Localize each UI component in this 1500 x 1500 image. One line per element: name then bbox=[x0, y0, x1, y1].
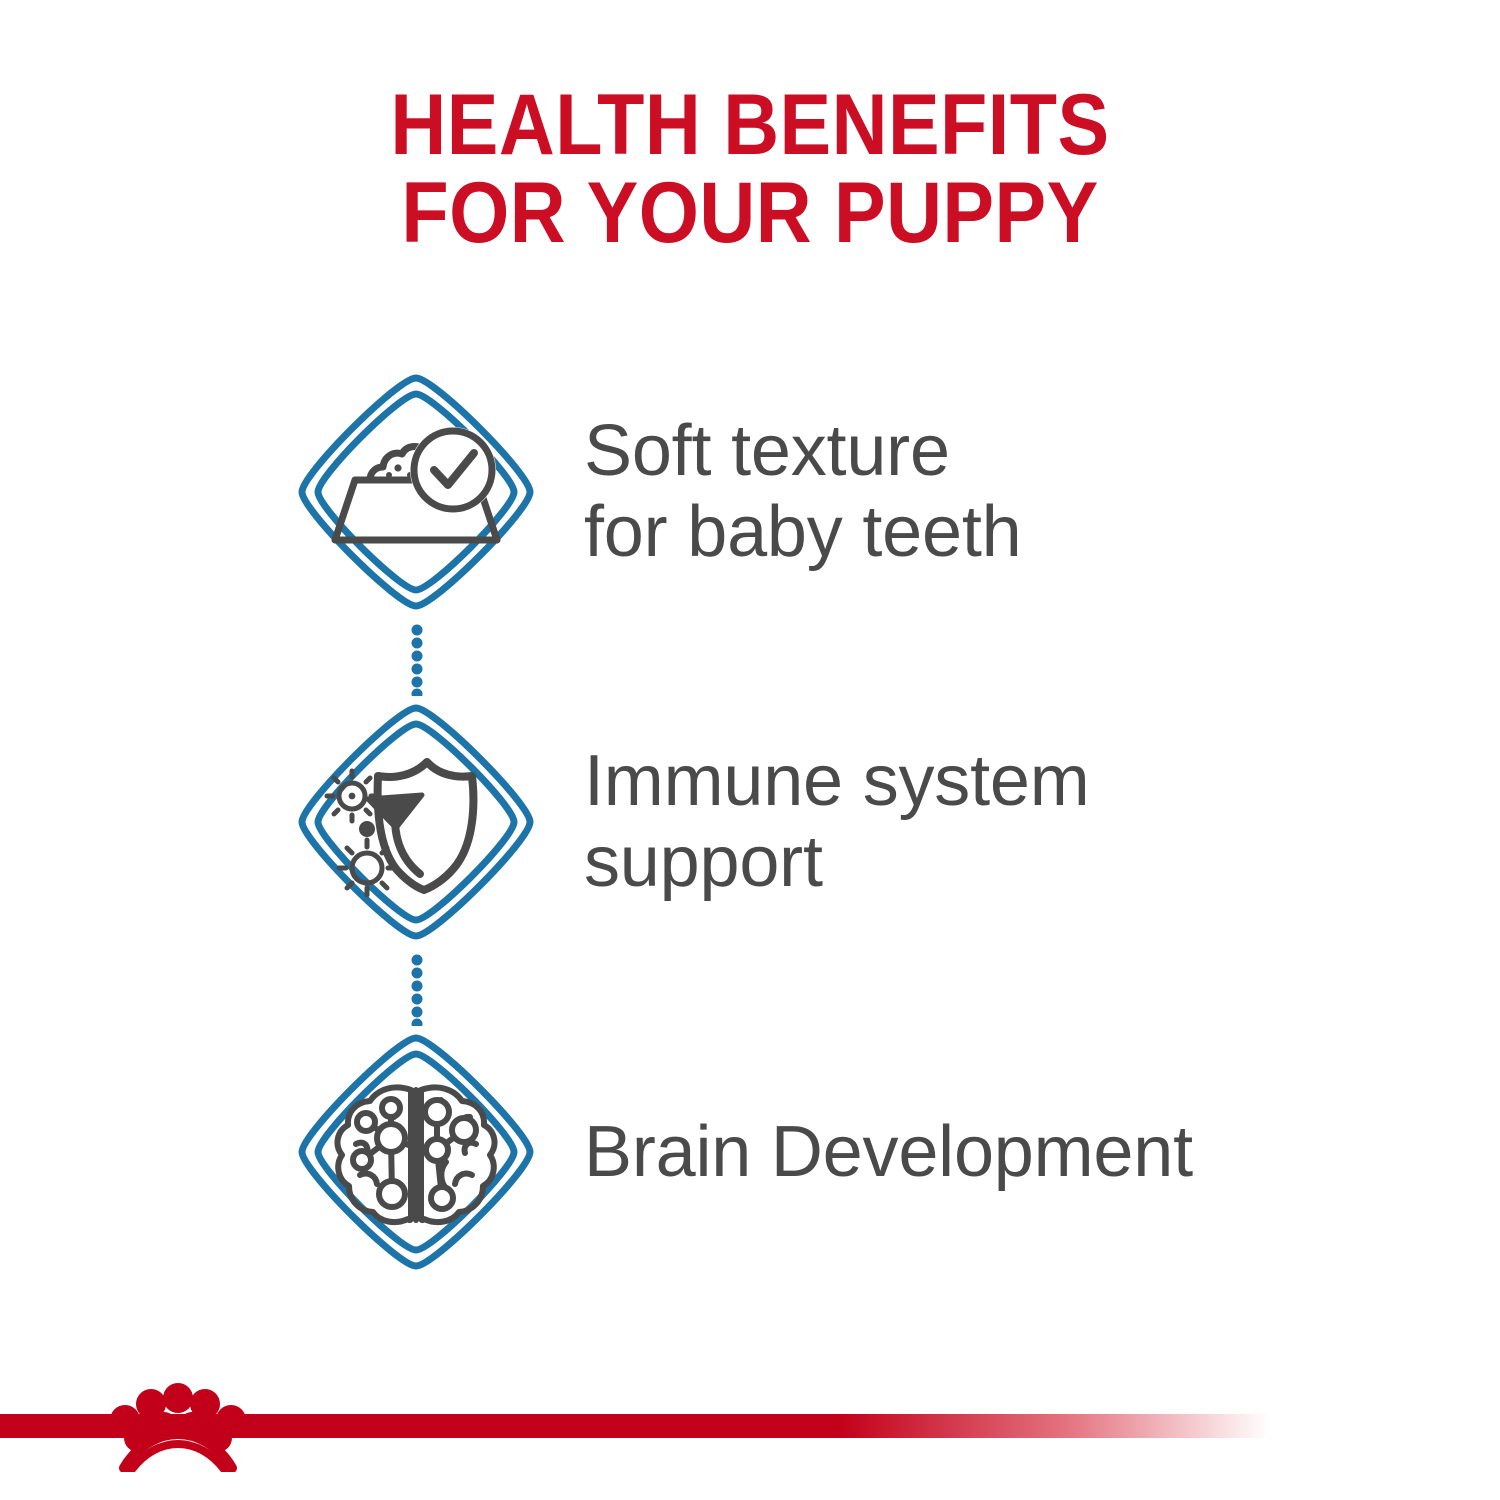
shield-germs-icon bbox=[296, 702, 536, 942]
brain-network-icon bbox=[296, 1032, 536, 1272]
benefit-label: Brain Development bbox=[584, 1112, 1456, 1193]
connector-dots-2 bbox=[408, 954, 426, 1026]
benefit-label: Immune system support bbox=[584, 741, 1456, 902]
food-bowl-check-icon bbox=[296, 372, 536, 612]
benefit-item-brain-development: Brain Development bbox=[296, 1032, 1456, 1272]
benefit-label: Soft texture for baby teeth bbox=[584, 411, 1456, 572]
royal-canin-crown-logo bbox=[98, 1376, 258, 1472]
benefit-item-soft-texture: Soft texture for baby teeth bbox=[296, 372, 1456, 612]
page-title-line-2: FOR YOUR PUPPY bbox=[75, 170, 1425, 258]
page-title: HEALTH BENEFITS FOR YOUR PUPPY bbox=[75, 82, 1425, 257]
connector-dots-1 bbox=[408, 624, 426, 696]
benefits-infographic: HEALTH BENEFITS FOR YOUR PUPPY bbox=[0, 0, 1500, 1500]
benefits-list: Soft texture for baby teeth bbox=[0, 372, 1500, 1302]
page-title-line-1: HEALTH BENEFITS bbox=[75, 82, 1425, 170]
benefit-item-immune-support: Immune system support bbox=[296, 702, 1456, 942]
